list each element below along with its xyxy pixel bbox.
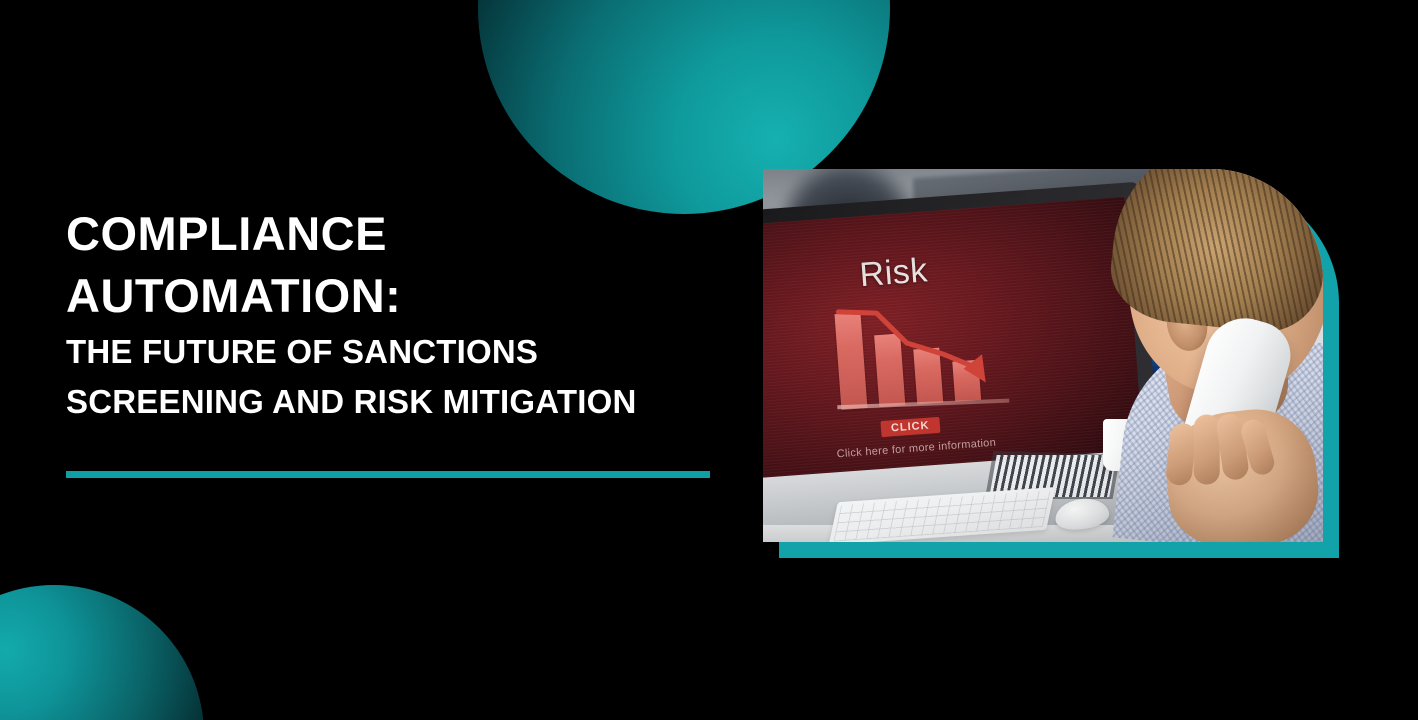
hero-photo: Risk CLICK Click here for more informati… xyxy=(763,169,1323,542)
subtitle-line-1: THE FUTURE OF SANCTIONS xyxy=(66,327,726,377)
teal-underline-rule xyxy=(66,471,710,478)
subtitle-line-2: SCREENING AND RISK MITIGATION xyxy=(66,377,726,427)
promo-banner: COMPLIANCE AUTOMATION: THE FUTURE OF SAN… xyxy=(0,0,1418,720)
photo-vignette xyxy=(763,169,1323,542)
page-title-line-1: COMPLIANCE xyxy=(66,203,726,265)
headline-block: COMPLIANCE AUTOMATION: THE FUTURE OF SAN… xyxy=(66,203,726,427)
page-title-line-2: AUTOMATION: xyxy=(66,265,726,327)
teal-gradient-circle-bottom-icon xyxy=(0,585,204,720)
